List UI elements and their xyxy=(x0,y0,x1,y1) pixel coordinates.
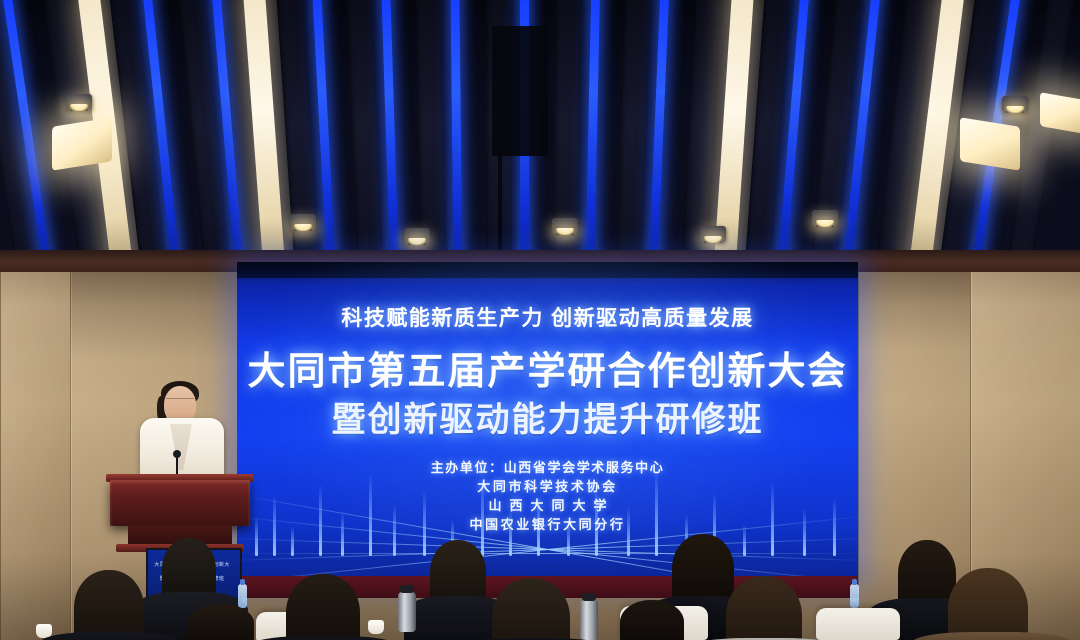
screen-title-line1: 大同市第五届产学研合作创新大会 xyxy=(237,340,858,395)
podium xyxy=(110,480,250,526)
speaker-glasses xyxy=(166,398,194,405)
water-bottle xyxy=(850,584,859,608)
audience-head xyxy=(620,600,684,640)
stage-spotlight xyxy=(812,210,838,226)
stage-spotlight xyxy=(1002,96,1028,112)
wall-panel xyxy=(0,250,72,640)
ceiling xyxy=(0,0,1080,268)
led-stage-screen: 科技赋能新质生产力 创新驱动高质量发展 大同市第五届产学研合作创新大会 暨创新驱… xyxy=(237,262,858,580)
screen-tagline: 科技赋能新质生产力 创新驱动高质量发展 xyxy=(237,302,858,332)
audience-head xyxy=(948,568,1028,640)
water-bottle xyxy=(238,584,247,608)
organizer-line: 中国农业银行大同分行 xyxy=(237,515,858,534)
stage-spotlight xyxy=(404,228,430,244)
organizer-line: 山西大同大学 xyxy=(237,496,858,515)
screen-horizon-line xyxy=(237,553,858,554)
ceiling-led-strip xyxy=(450,0,462,268)
organizer-line: 主办单位：山西省学会学术服务中心 xyxy=(237,458,858,477)
stage-spotlight xyxy=(290,214,316,230)
ceiling-beam xyxy=(615,0,651,268)
audience-head xyxy=(286,574,360,640)
audience-head xyxy=(188,604,254,640)
chair-back xyxy=(816,608,900,640)
audience-shoulders xyxy=(912,632,1072,640)
ceiling-truss-box xyxy=(492,26,548,156)
ceiling-led-strip xyxy=(647,0,669,268)
organizer-line: 大同市科学技术协会 xyxy=(237,477,858,496)
thermos-flask xyxy=(398,592,416,632)
screen-organizers: 主办单位：山西省学会学术服务中心 大同市科学技术协会 山西大同大学 中国农业银行… xyxy=(237,458,858,534)
ceiling-light-fixture xyxy=(960,117,1020,171)
ceiling-rigging xyxy=(498,150,502,260)
teacup xyxy=(368,620,384,634)
ceiling-led-strip xyxy=(585,0,601,268)
audience-head xyxy=(74,570,144,640)
stage-spotlight xyxy=(552,218,578,234)
conference-photo: 科技赋能新质生产力 创新驱动高质量发展 大同市第五届产学研合作创新大会 暨创新驱… xyxy=(0,0,1080,640)
stage-spotlight xyxy=(66,94,92,110)
ceiling-led-strip xyxy=(381,0,400,268)
thermos-flask xyxy=(580,600,598,640)
ceiling-beam xyxy=(345,0,384,268)
audience-shoulders xyxy=(40,632,180,640)
screen-title-line2: 暨创新驱动能力提升研修班 xyxy=(237,392,858,441)
stage-spotlight xyxy=(700,226,726,242)
